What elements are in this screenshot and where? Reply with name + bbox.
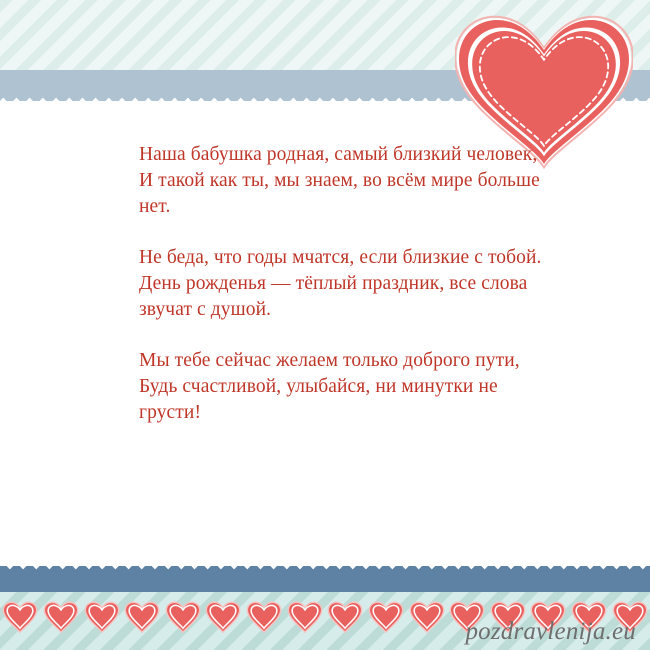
poem-stanza: Не беда, что годы мчатся, если близкие с… xyxy=(139,245,559,322)
poem-line: Наша бабушка родная, самый близкий челов… xyxy=(139,144,537,165)
poem-line: И такой как ты, мы знаем, во всём мире б… xyxy=(139,170,545,217)
heart-icon xyxy=(409,601,445,634)
poem-line: Будь счастливой, улыбайся, ни минутки не… xyxy=(139,376,503,423)
footer-blue-band xyxy=(0,575,650,592)
poem-stanza: Наша бабушка родная, самый близкий челов… xyxy=(139,142,559,219)
heart-icon xyxy=(165,601,201,634)
heart-icon xyxy=(368,601,404,634)
heart-icon xyxy=(327,601,363,634)
heart-icon xyxy=(84,601,120,634)
site-logo: pozdravlenija.eu xyxy=(465,618,636,646)
poem-line: День рожденья — тёплый праздник, все сло… xyxy=(139,273,532,320)
poem-line: Мы тебе сейчас желаем только доброго пут… xyxy=(139,350,520,371)
heart-icon xyxy=(246,601,282,634)
heart-icon xyxy=(124,601,160,634)
footer-striped-background: pozdravlenija.eu xyxy=(0,592,650,650)
poem-text-block: Наша бабушка родная, самый близкий челов… xyxy=(139,142,559,426)
heart-icon xyxy=(43,601,79,634)
greeting-card: Наша бабушка родная, самый близкий челов… xyxy=(0,0,650,650)
poem-line: Не беда, что годы мчатся, если близкие с… xyxy=(139,247,542,268)
poem-stanza: Мы тебе сейчас желаем только доброго пут… xyxy=(139,348,559,425)
heart-icon xyxy=(205,601,241,634)
footer-zigzag-edge xyxy=(0,566,650,575)
heart-icon xyxy=(287,601,323,634)
heart-icon xyxy=(2,601,38,634)
